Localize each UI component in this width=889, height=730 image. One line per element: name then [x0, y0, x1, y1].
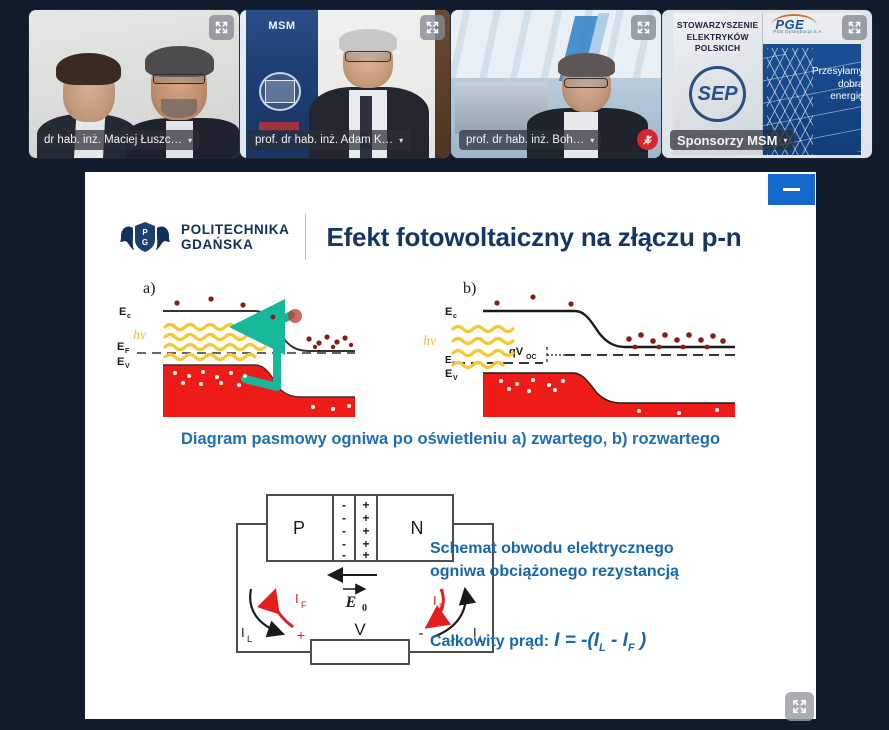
- circuit-description: Schemat obwodu elektrycznego ogniwa obci…: [430, 537, 790, 583]
- circuit-description-line2: ogniwa obciążonego rezystancją: [430, 560, 790, 583]
- chevron-down-icon[interactable]: ▾: [399, 136, 403, 145]
- participant-name-badge-4[interactable]: Sponsorzy MSM ▾: [670, 130, 794, 150]
- slide-header: P G POLITECHNIKA GDAŃSKA Efekt fotowolta…: [117, 214, 741, 260]
- svg-text:+: +: [362, 511, 369, 525]
- svg-text:+: +: [362, 548, 369, 562]
- svg-text:E: E: [117, 356, 124, 368]
- chevron-down-icon[interactable]: ▾: [590, 136, 594, 145]
- participant-tile-2[interactable]: MSM prof. dr hab. inż. Adam K… ▾: [240, 10, 450, 158]
- sep-board-text: STOWARZYSZENIE ELEKTRYKÓW POLSKICH: [677, 20, 759, 54]
- circuit-description-line1: Schemat obwodu elektrycznego: [430, 537, 790, 560]
- svg-text:I: I: [295, 591, 299, 606]
- expand-icon[interactable]: [420, 15, 445, 40]
- svg-text:E: E: [445, 355, 452, 366]
- pge-slogan: Przesyłamy dobrą energię: [771, 66, 863, 104]
- formula-expression: I = -(IL - IF ): [554, 630, 646, 654]
- svg-text:c: c: [453, 313, 457, 320]
- muted-microphone-icon: [637, 129, 658, 150]
- svg-text:OC: OC: [526, 354, 537, 361]
- svg-text:+: +: [297, 627, 305, 643]
- sep-logo: SEP: [689, 66, 746, 122]
- svg-text:N: N: [411, 518, 424, 538]
- participant-name-badge-1[interactable]: dr hab. inż. Maciej Łuszc… ▾: [37, 130, 199, 150]
- svg-text:I: I: [241, 625, 245, 640]
- svg-text:F: F: [301, 600, 307, 610]
- msm-banner-text: MSM: [251, 20, 314, 32]
- svg-text:-: -: [342, 498, 346, 512]
- svg-text:-: -: [342, 548, 346, 562]
- chevron-down-icon[interactable]: ▾: [188, 136, 192, 145]
- total-current-label: Całkowity prąd:: [430, 633, 549, 651]
- participant-name-4: Sponsorzy MSM: [677, 133, 777, 148]
- svg-text:a): a): [143, 280, 155, 297]
- participant-name-1: dr hab. inż. Maciej Łuszc…: [44, 134, 182, 146]
- participant-tile-strip: dr hab. inż. Maciej Łuszc… ▾ MSM: [0, 0, 889, 168]
- svg-text:P: P: [142, 228, 148, 237]
- pge-subtitle: PGE Dystrybucja S.A.: [773, 29, 823, 34]
- participant-tile-3[interactable]: prof. dr hab. inż. Boh… ▾: [451, 10, 661, 158]
- svg-text:0: 0: [362, 603, 367, 614]
- chevron-down-icon[interactable]: ▾: [783, 136, 787, 145]
- svg-text:-: -: [419, 625, 424, 642]
- svg-text:hv: hv: [423, 334, 437, 349]
- band-diagram-caption: Diagram pasmowy ogniwa po oświetleniu a)…: [85, 430, 816, 449]
- pg-coat-of-arms-icon: P G: [117, 218, 173, 256]
- expand-icon[interactable]: [209, 15, 234, 40]
- participant-name-3: prof. dr hab. inż. Boh…: [466, 134, 584, 146]
- svg-text:hv: hv: [133, 328, 147, 343]
- participant-tile-4[interactable]: STOWARZYSZENIE ELEKTRYKÓW POLSKICH SEP P…: [662, 10, 872, 158]
- svg-text:E: E: [119, 306, 126, 318]
- header-divider: [305, 214, 306, 260]
- svg-text:G: G: [142, 238, 148, 247]
- svg-text:I: I: [433, 593, 437, 608]
- svg-text:F: F: [125, 348, 130, 355]
- svg-text:b): b): [463, 280, 476, 297]
- svg-text:-: -: [342, 511, 346, 525]
- participant-name-badge-3[interactable]: prof. dr hab. inż. Boh… ▾: [459, 130, 601, 150]
- participant-tile-1[interactable]: dr hab. inż. Maciej Łuszc… ▾: [29, 10, 239, 158]
- participant-name-2: prof. dr hab. inż. Adam K…: [255, 134, 393, 146]
- fullscreen-button[interactable]: [785, 692, 814, 721]
- shared-slide: P G POLITECHNIKA GDAŃSKA Efekt fotowolta…: [85, 172, 816, 719]
- politechnika-gdanska-logo: P G POLITECHNIKA GDAŃSKA: [117, 218, 289, 256]
- meeting-window: dr hab. inż. Maciej Łuszc… ▾ MSM: [0, 0, 889, 730]
- fullscreen-expand-icon: [791, 698, 808, 715]
- svg-text:-: -: [342, 524, 346, 538]
- total-current-formula: Całkowity prąd: I = -(IL - IF ): [430, 630, 790, 654]
- band-diagram-figure: a) E c E F E V hv: [105, 277, 797, 417]
- svg-text:E: E: [345, 594, 357, 611]
- svg-text:V: V: [354, 620, 366, 639]
- svg-text:V: V: [453, 375, 458, 382]
- participant-name-badge-2[interactable]: prof. dr hab. inż. Adam K… ▾: [248, 130, 410, 150]
- band-diagram-svg: a) E c E F E V hv: [105, 277, 797, 417]
- expand-icon[interactable]: [842, 15, 867, 40]
- page-title: Efekt fotowoltaiczny na złączu p-n: [326, 222, 741, 253]
- expand-icon[interactable]: [631, 15, 656, 40]
- svg-text:+: +: [362, 524, 369, 538]
- svg-text:P: P: [293, 518, 305, 538]
- svg-text:F: F: [439, 602, 445, 612]
- svg-text:E: E: [445, 368, 452, 380]
- minimize-icon: [783, 188, 800, 191]
- pg-wordmark: POLITECHNIKA GDAŃSKA: [181, 222, 289, 252]
- svg-text:c: c: [127, 313, 131, 320]
- svg-text:E: E: [117, 341, 124, 353]
- svg-text:L: L: [247, 634, 252, 644]
- svg-text:+: +: [362, 498, 369, 512]
- svg-text:V: V: [125, 363, 130, 370]
- svg-text:E: E: [445, 306, 452, 318]
- minimize-button[interactable]: [768, 174, 815, 205]
